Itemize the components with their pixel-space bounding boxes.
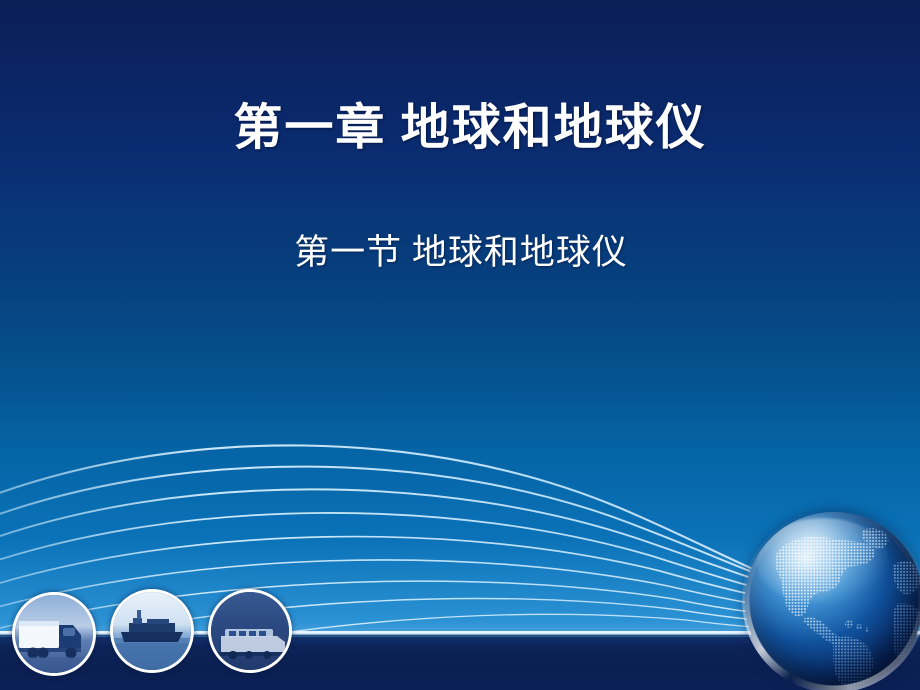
ship-icon	[110, 589, 194, 673]
ship-icon-glyph	[113, 592, 194, 673]
train-icon	[208, 589, 292, 673]
slide-subtitle: 第一节 地球和地球仪	[0, 232, 920, 274]
train-icon-glyph	[211, 592, 292, 673]
truck-icon-glyph	[15, 595, 96, 676]
truck-icon	[12, 592, 96, 676]
slide-title: 第一章 地球和地球仪	[0, 100, 920, 156]
presentation-slide: 第一章 地球和地球仪 第一节 地球和地球仪	[0, 0, 920, 690]
